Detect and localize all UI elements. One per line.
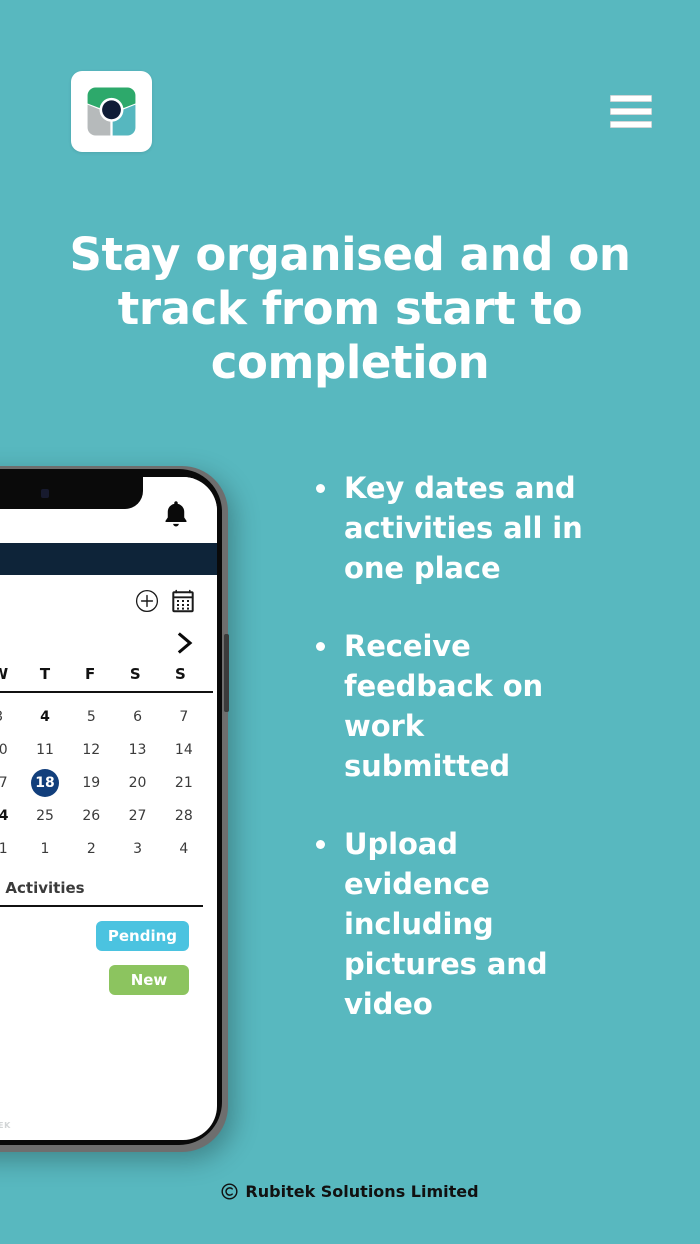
calendar-day[interactable]: 31 bbox=[0, 835, 22, 863]
calendar-day-label: 21 bbox=[175, 775, 193, 791]
list-item: Upload evidence including pictures and v… bbox=[308, 824, 598, 1024]
calendar-day[interactable]: 14 bbox=[161, 736, 207, 764]
rubitek-logo-icon bbox=[83, 83, 140, 140]
activities-heading: Activities bbox=[0, 879, 203, 907]
page-title: Stay organised and on track from start t… bbox=[50, 228, 650, 390]
calendar-day-label: 11 bbox=[36, 742, 54, 758]
calendar-day-label: 1 bbox=[41, 841, 50, 857]
calendar-day[interactable]: 17 bbox=[0, 769, 22, 797]
copyright-icon bbox=[221, 1183, 238, 1200]
list-item-label: Upload evidence including pictures and v… bbox=[344, 827, 548, 1021]
list-item-label: Key dates and activities all in one plac… bbox=[344, 471, 583, 585]
weekday-label: F bbox=[68, 665, 113, 683]
logo-button[interactable] bbox=[71, 71, 152, 152]
calendar-day-label: 20 bbox=[129, 775, 147, 791]
calendar-day[interactable]: 4 bbox=[161, 835, 207, 863]
chevron-right-icon[interactable] bbox=[175, 631, 195, 655]
weekday-label: S bbox=[113, 665, 158, 683]
calendar-day-label: 6 bbox=[133, 709, 142, 725]
phone-mockup: Schedule M bbox=[0, 466, 228, 1152]
list-item-label: Receive feedback on work submitted bbox=[344, 629, 543, 783]
hamburger-bar-2 bbox=[610, 108, 652, 115]
calendar-day-selected[interactable]: 18 bbox=[22, 769, 68, 797]
calendar-day[interactable]: 21 bbox=[161, 769, 207, 797]
activity-badges: Pending New bbox=[0, 907, 217, 995]
calendar-day[interactable]: 1 bbox=[22, 835, 68, 863]
weekday-label: S bbox=[158, 665, 203, 683]
notch-speaker-icon bbox=[41, 489, 49, 498]
phone-side-button[interactable] bbox=[224, 634, 229, 712]
calendar-icon[interactable] bbox=[171, 589, 195, 613]
calendar-week-row: 22232425262728 bbox=[0, 802, 217, 830]
calendar-day[interactable]: 12 bbox=[68, 736, 114, 764]
phone-screen: Schedule M bbox=[0, 477, 217, 1140]
phone-notch bbox=[0, 477, 143, 509]
calendar-week-row: 2930311234 bbox=[0, 835, 217, 863]
calendar-day-label: 24 bbox=[0, 808, 8, 824]
calendar-day[interactable]: 13 bbox=[114, 736, 160, 764]
calendar-day-label: 31 bbox=[0, 841, 8, 857]
calendar-day-label: 17 bbox=[0, 775, 8, 791]
hamburger-bar-3 bbox=[610, 121, 652, 128]
weekday-label: W bbox=[0, 665, 22, 683]
plus-circle-icon[interactable] bbox=[135, 589, 159, 613]
calendar-day-label: 4 bbox=[40, 709, 50, 725]
calendar-day[interactable]: 19 bbox=[68, 769, 114, 797]
calendar-day-label: 14 bbox=[175, 742, 193, 758]
calendar-weekday-header: M T W T F S S bbox=[0, 665, 213, 693]
app-bar: Schedule bbox=[0, 543, 217, 575]
calendar-day-label: 18 bbox=[31, 769, 59, 797]
bell-icon[interactable] bbox=[163, 499, 189, 529]
calendar-day[interactable]: 3 bbox=[0, 703, 22, 731]
calendar-day[interactable]: 10 bbox=[0, 736, 22, 764]
hamburger-bar-1 bbox=[610, 95, 652, 102]
list-item: Receive feedback on work submitted bbox=[308, 626, 598, 786]
calendar-day-label: 13 bbox=[129, 742, 147, 758]
calendar-week-row: 1234567 bbox=[0, 703, 217, 731]
calendar-day[interactable]: 25 bbox=[22, 802, 68, 830]
bullet-dot-icon bbox=[316, 840, 325, 849]
calendar-day[interactable]: 2 bbox=[68, 835, 114, 863]
landing-page: Stay organised and on track from start t… bbox=[0, 0, 700, 1244]
calendar-day-label: 3 bbox=[0, 709, 3, 725]
calendar-day[interactable]: 27 bbox=[114, 802, 160, 830]
calendar-day-label: 4 bbox=[179, 841, 188, 857]
feature-list: Key dates and activities all in one plac… bbox=[308, 468, 598, 1024]
calendar-day-label: 12 bbox=[82, 742, 100, 758]
calendar-day[interactable]: 24 bbox=[0, 802, 22, 830]
calendar-day[interactable]: 3 bbox=[114, 835, 160, 863]
calendar-day[interactable]: 26 bbox=[68, 802, 114, 830]
calendar-week-row: 15161718192021 bbox=[0, 769, 217, 797]
site-header bbox=[0, 0, 700, 190]
powered-by-label: POWERED BY RUBITEK bbox=[0, 1121, 11, 1130]
month-navigator: May 2022 bbox=[0, 615, 217, 665]
calendar-day-label: 3 bbox=[133, 841, 142, 857]
calendar-day-label: 25 bbox=[36, 808, 54, 824]
calendar-grid: 1234567891011121314151617181920212223242… bbox=[0, 703, 217, 863]
hamburger-menu-icon[interactable] bbox=[610, 95, 652, 128]
calendar-day-label: 10 bbox=[0, 742, 8, 758]
calendar-day[interactable]: 4 bbox=[22, 703, 68, 731]
bullet-dot-icon bbox=[316, 484, 325, 493]
list-item: Key dates and activities all in one plac… bbox=[308, 468, 598, 588]
status-badge-pending[interactable]: Pending bbox=[96, 921, 189, 951]
bullet-dot-icon bbox=[316, 642, 325, 651]
status-badge-new[interactable]: New bbox=[109, 965, 189, 995]
calendar-day-label: 2 bbox=[87, 841, 96, 857]
calendar-day-label: 26 bbox=[82, 808, 100, 824]
calendar-day[interactable]: 28 bbox=[161, 802, 207, 830]
calendar-toolbar bbox=[0, 575, 217, 615]
calendar-day[interactable]: 20 bbox=[114, 769, 160, 797]
footer-text: Rubitek Solutions Limited bbox=[245, 1182, 478, 1201]
calendar-day[interactable]: 5 bbox=[68, 703, 114, 731]
calendar-day[interactable]: 7 bbox=[161, 703, 207, 731]
footer: Rubitek Solutions Limited bbox=[0, 1182, 700, 1201]
calendar-day[interactable]: 6 bbox=[114, 703, 160, 731]
calendar-day-label: 28 bbox=[175, 808, 193, 824]
calendar-day-label: 5 bbox=[87, 709, 96, 725]
calendar-day-label: 27 bbox=[129, 808, 147, 824]
calendar-day-label: 19 bbox=[82, 775, 100, 791]
weekday-label: T bbox=[22, 665, 67, 683]
calendar-day[interactable]: 11 bbox=[22, 736, 68, 764]
calendar-week-row: 891011121314 bbox=[0, 736, 217, 764]
calendar-day-label: 7 bbox=[179, 709, 188, 725]
